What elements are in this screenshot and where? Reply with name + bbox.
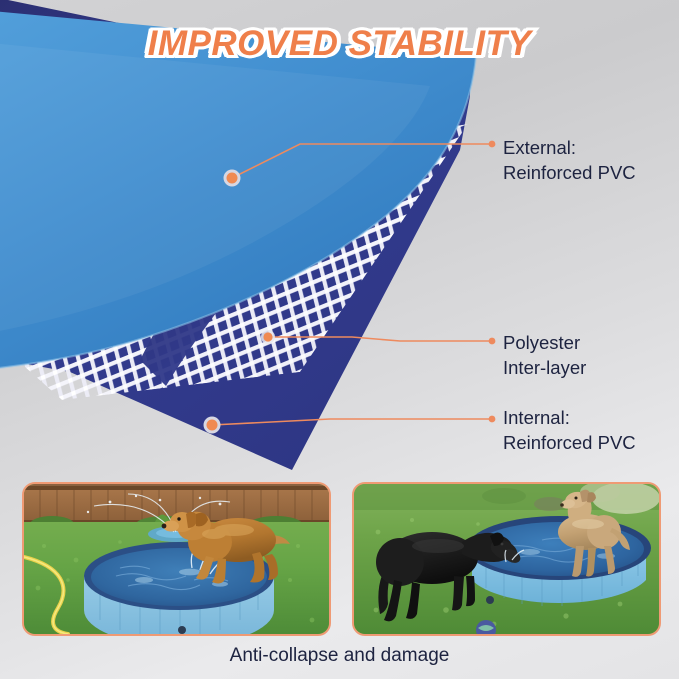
callout-label-polyester: Polyester Inter-layer xyxy=(503,330,586,380)
callout-label-polyester-line1: Polyester xyxy=(503,332,580,353)
callout-label-polyester-line2: Inter-layer xyxy=(503,355,586,380)
callout-end-dots xyxy=(489,141,496,423)
photo-right-scene xyxy=(354,484,659,634)
photo-row xyxy=(0,482,679,637)
photo-dog-jumping-into-pool xyxy=(22,482,331,636)
photo-left-scene xyxy=(24,484,329,634)
bottom-caption: Anti-collapse and damage xyxy=(0,645,679,667)
headline-title-text: IMPROVED STABILITY xyxy=(148,24,532,63)
callout-label-internal-line1: Internal: xyxy=(503,407,570,428)
callout-label-internal-line2: Reinforced PVC xyxy=(503,430,636,455)
callout-label-external-line1: External: xyxy=(503,137,576,158)
photo-two-dogs-at-pool xyxy=(352,482,661,636)
callout-label-internal: Internal: Reinforced PVC xyxy=(503,405,636,455)
headline-title: IMPROVED STABILITY xyxy=(0,24,679,64)
callout-label-external-line2: Reinforced PVC xyxy=(503,160,636,185)
callout-label-external: External: Reinforced PVC xyxy=(503,135,636,185)
improved-stability-infographic: IMPROVED STABILITY External: Reinforced … xyxy=(0,0,679,679)
